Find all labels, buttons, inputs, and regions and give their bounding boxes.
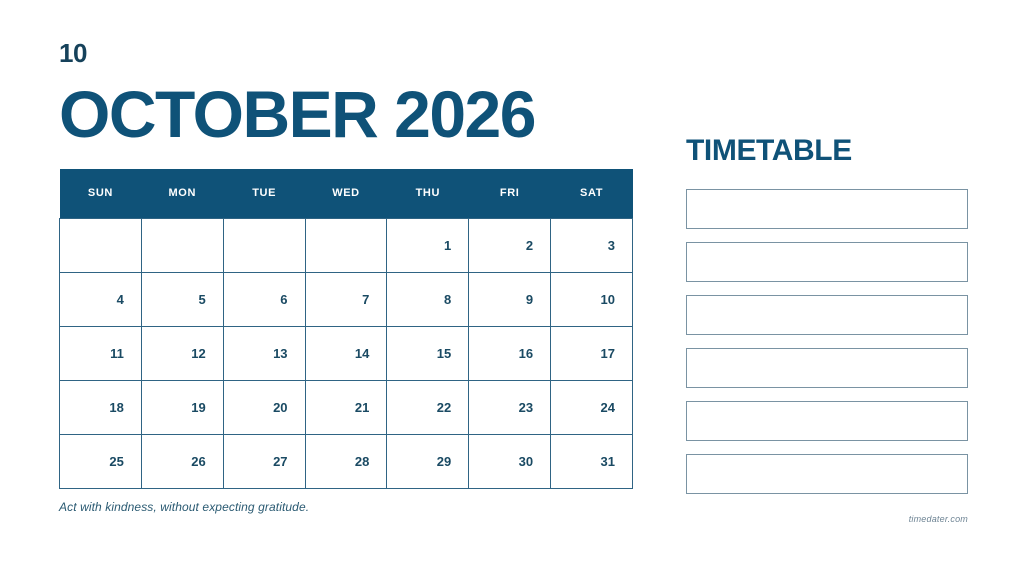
calendar-day-cell[interactable]: 13 [223,327,305,381]
calendar-day-cell[interactable]: 10 [551,273,633,327]
weekday-header-row: SUN MON TUE WED THU FRI SAT [60,169,633,219]
calendar-day-cell[interactable] [60,219,142,273]
calendar-day-cell[interactable]: 16 [469,327,551,381]
weekday-header-thu: THU [387,169,469,219]
page-title: OCTOBER 2026 [59,82,633,147]
calendar-day-cell[interactable]: 25 [60,435,142,489]
calendar-day-cell[interactable]: 22 [387,381,469,435]
calendar-day-cell[interactable]: 3 [551,219,633,273]
calendar-day-cell[interactable]: 4 [60,273,142,327]
calendar-day-cell[interactable] [141,219,223,273]
calendar-day-cell[interactable]: 2 [469,219,551,273]
calendar-day-cell[interactable]: 18 [60,381,142,435]
timetable-entry-field[interactable] [686,189,968,229]
calendar-day-cell[interactable]: 19 [141,381,223,435]
timetable-list [686,189,968,494]
calendar-day-cell[interactable]: 20 [223,381,305,435]
timetable-title: TIMETABLE [686,136,968,166]
footer-quote: Act with kindness, without expecting gra… [59,500,633,514]
calendar-day-cell[interactable]: 24 [551,381,633,435]
timetable-entry-field[interactable] [686,454,968,494]
calendar-page: 10 OCTOBER 2026 SUN MON TUE WED THU FRI … [0,0,1024,576]
calendar-day-cell[interactable]: 15 [387,327,469,381]
calendar-day-cell[interactable]: 12 [141,327,223,381]
calendar-week-row: 1 2 3 [60,219,633,273]
weekday-header-sat: SAT [551,169,633,219]
calendar-week-row: 18 19 20 21 22 23 24 [60,381,633,435]
weekday-header-sun: SUN [60,169,142,219]
calendar-day-cell[interactable]: 17 [551,327,633,381]
timetable-entry-field[interactable] [686,348,968,388]
weekday-header-fri: FRI [469,169,551,219]
watermark: timedater.com [686,514,968,524]
calendar-week-row: 4 5 6 7 8 9 10 [60,273,633,327]
calendar-day-cell[interactable]: 5 [141,273,223,327]
calendar-table: SUN MON TUE WED THU FRI SAT 1 2 3 [59,169,633,490]
month-number: 10 [59,40,633,66]
calendar-week-row: 11 12 13 14 15 16 17 [60,327,633,381]
calendar-day-cell[interactable]: 28 [305,435,387,489]
calendar-day-cell[interactable]: 21 [305,381,387,435]
timetable-entry-field[interactable] [686,242,968,282]
calendar-day-cell[interactable]: 29 [387,435,469,489]
calendar-day-cell[interactable]: 23 [469,381,551,435]
calendar-day-cell[interactable]: 11 [60,327,142,381]
weekday-header-tue: TUE [223,169,305,219]
calendar-day-cell[interactable] [223,219,305,273]
calendar-day-cell[interactable]: 31 [551,435,633,489]
timetable-entry-field[interactable] [686,401,968,441]
calendar-day-cell[interactable] [305,219,387,273]
calendar-day-cell[interactable]: 26 [141,435,223,489]
calendar-day-cell[interactable]: 9 [469,273,551,327]
weekday-header-wed: WED [305,169,387,219]
calendar-day-cell[interactable]: 7 [305,273,387,327]
timetable-entry-field[interactable] [686,295,968,335]
calendar-day-cell[interactable]: 14 [305,327,387,381]
calendar-day-cell[interactable]: 30 [469,435,551,489]
calendar-day-cell[interactable]: 8 [387,273,469,327]
timetable-block: TIMETABLE [686,136,968,494]
weekday-header-mon: MON [141,169,223,219]
calendar-week-row: 25 26 27 28 29 30 31 [60,435,633,489]
calendar-day-cell[interactable]: 6 [223,273,305,327]
calendar-day-cell[interactable]: 1 [387,219,469,273]
calendar-block: 10 OCTOBER 2026 SUN MON TUE WED THU FRI … [59,40,633,514]
calendar-day-cell[interactable]: 27 [223,435,305,489]
